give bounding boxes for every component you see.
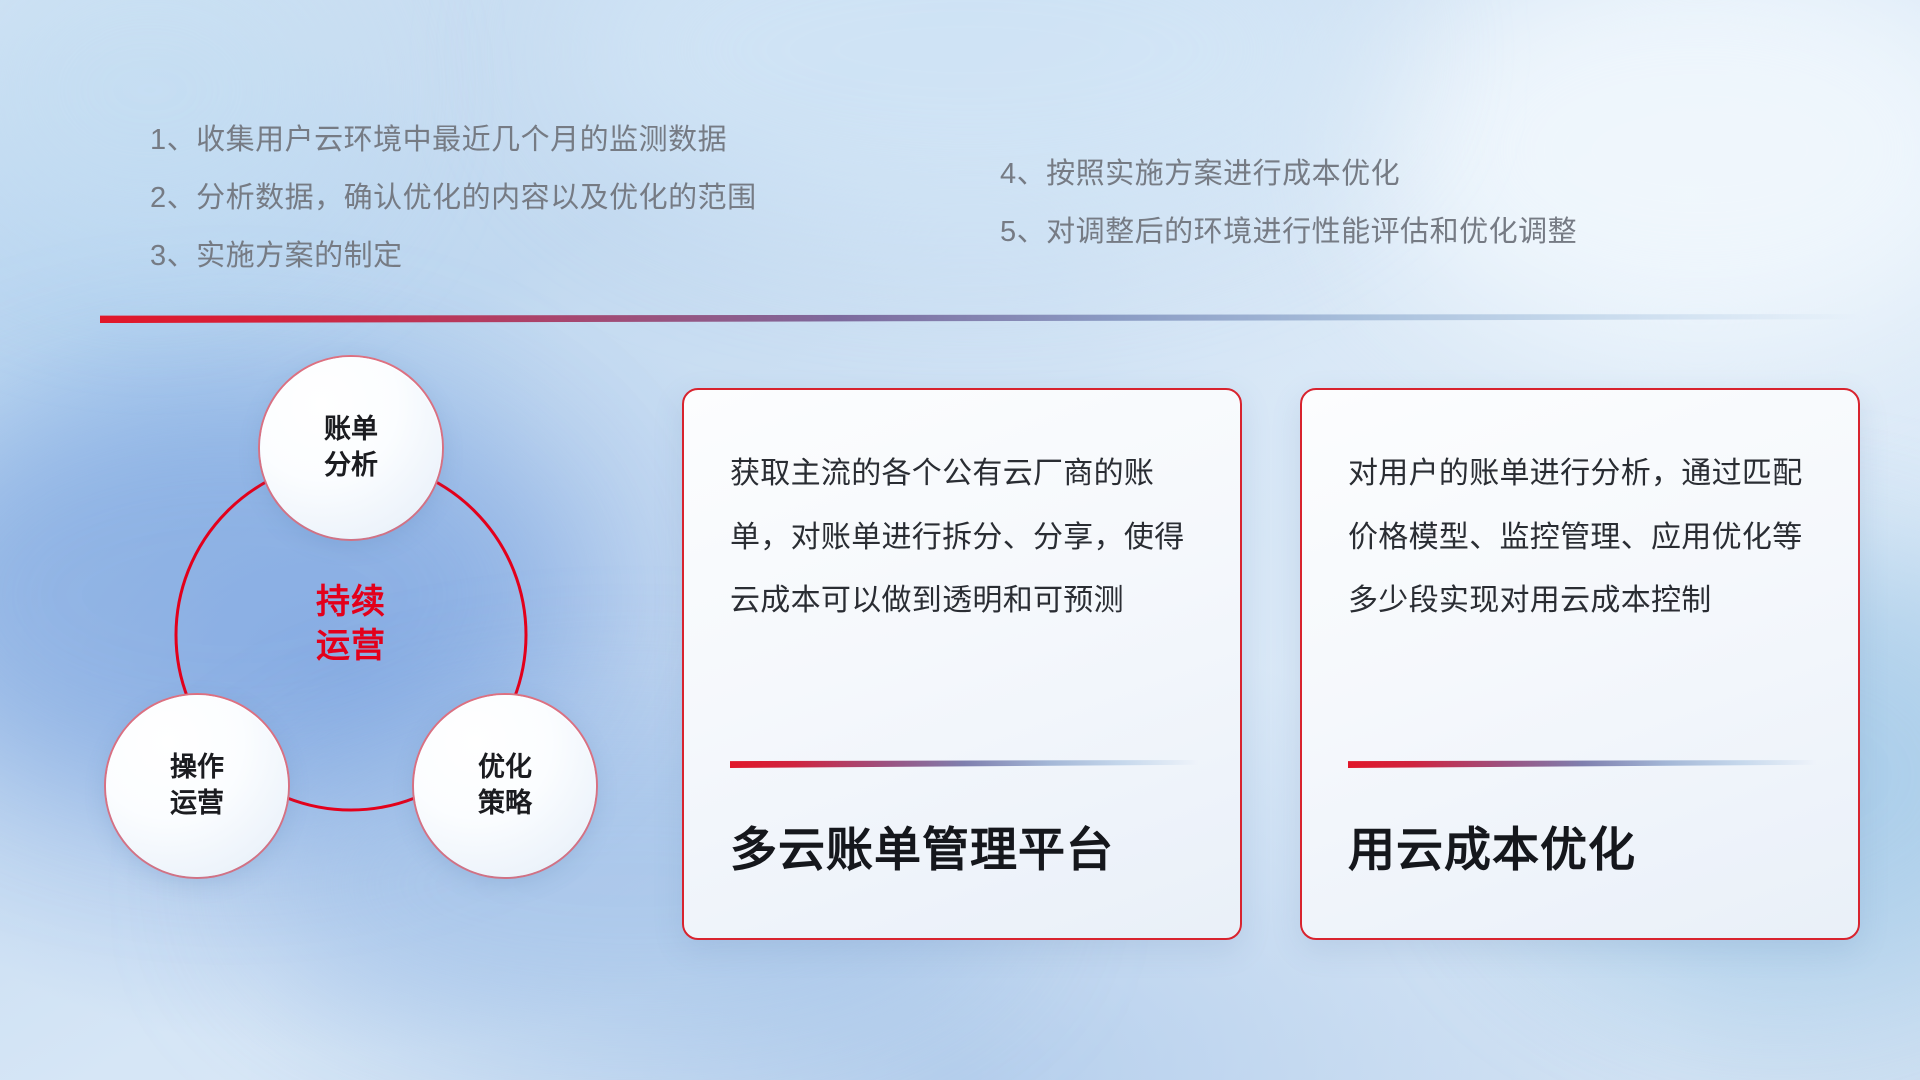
venn-node-label-line2: 分析 [324,448,378,484]
section-divider [100,314,1860,323]
card-title: 多云账单管理平台 [730,811,1114,880]
venn-node-label-line1: 账单 [324,412,378,448]
venn-node-operations[interactable]: 操作 运营 [106,695,288,877]
venn-node-label: 优化 策略 [478,750,532,821]
card-multicloud-billing-platform[interactable]: 获取主流的各个公有云厂商的账单，对账单进行拆分、分享，使得云成本可以做到透明和可… [682,388,1242,940]
venn-node-label-line1: 操作 [170,750,224,786]
card-body-text: 获取主流的各个公有云厂商的账单，对账单进行拆分、分享，使得云成本可以做到透明和可… [730,442,1194,633]
card-cloud-cost-optimization[interactable]: 对用户的账单进行分析，通过匹配价格模型、监控管理、应用优化等多少段实现对用云成本… [1300,388,1860,940]
card-divider-bar [730,760,1198,768]
venn-center-label: 持续 运营 [281,580,421,668]
bullet-list-right: 4、按照实施方案进行成本优化 5、对调整后的环境进行性能评估和优化调整 [1000,160,1577,276]
bullet-item-4: 4、按照实施方案进行成本优化 [1000,160,1577,189]
bullet-item-3: 3、实施方案的制定 [150,242,757,271]
venn-node-billing-analysis[interactable]: 账单 分析 [260,357,442,539]
slide-canvas: 1、收集用户云环境中最近几个月的监测数据 2、分析数据，确认优化的内容以及优化的… [0,0,1920,1080]
venn-center-label-line2: 运营 [281,624,421,668]
divider-bar [100,314,1860,323]
venn-node-label-line2: 策略 [478,786,532,822]
bullet-item-2: 2、分析数据，确认优化的内容以及优化的范围 [150,184,757,213]
venn-center-label-line1: 持续 [281,580,421,624]
venn-diagram: 账单 分析 操作 运营 优化 策略 持续 运营 [96,345,616,925]
bullet-item-1: 1、收集用户云环境中最近几个月的监测数据 [150,126,757,155]
venn-node-label-line2: 运营 [170,786,224,822]
card-divider [1348,760,1816,768]
card-body-text: 对用户的账单进行分析，通过匹配价格模型、监控管理、应用优化等多少段实现对用云成本… [1348,442,1812,633]
venn-node-label: 操作 运营 [170,750,224,821]
card-title: 用云成本优化 [1348,811,1636,880]
venn-node-label: 账单 分析 [324,412,378,483]
card-divider-bar [1348,760,1816,768]
venn-node-optimization-strategy[interactable]: 优化 策略 [414,695,596,877]
card-divider [730,760,1198,768]
venn-node-label-line1: 优化 [478,750,532,786]
bullet-item-5: 5、对调整后的环境进行性能评估和优化调整 [1000,218,1577,247]
bullet-list-left: 1、收集用户云环境中最近几个月的监测数据 2、分析数据，确认优化的内容以及优化的… [150,126,757,300]
